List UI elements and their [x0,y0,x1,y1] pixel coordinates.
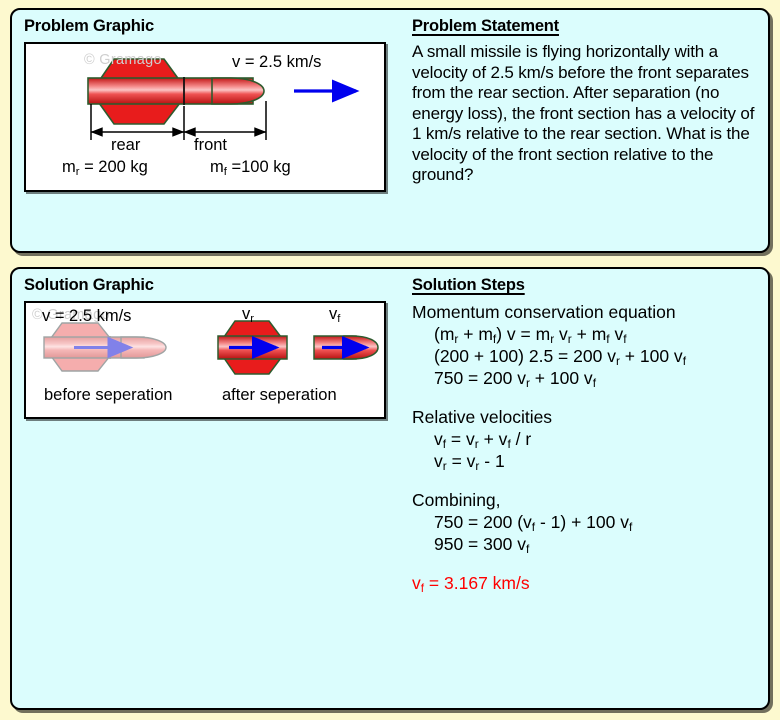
step-relative-line-1: vf = vr + vf / r [434,428,756,450]
problem-graphic-heading: Problem Graphic [24,17,404,36]
problem-mass-rear-label: mr = 200 kg [62,158,148,177]
problem-panel: Problem Graphic © Gramago [10,8,770,253]
caption-after-separation: after seperation [222,386,337,405]
solution-velocity-rear-label: vr [242,305,254,324]
vf-subscript: f [337,313,340,325]
solution-graphic-column: Solution Graphic © Gramago [12,269,404,708]
solution-velocity-front-label: vf [329,305,340,324]
missile-after-front [314,336,378,359]
problem-rear-label: rear [111,136,140,155]
solution-velocity-before-label: v = 2.5 km/s [42,307,131,326]
problem-velocity-label: v = 2.5 km/s [232,53,321,72]
step-combining-line-1: 750 = 200 (vf - 1) + 100 vf [434,511,756,533]
problem-graphic-column: Problem Graphic © Gramago [12,10,404,251]
caption-before-separation: before seperation [44,386,172,405]
step-group-momentum: Momentum conservation equation (mr + mf)… [412,301,756,389]
step-momentum-line-2: (200 + 100) 2.5 = 200 vr + 100 vf [434,345,756,367]
step-head-momentum: Momentum conservation equation [412,301,756,323]
problem-statement-column: Problem Statement A small missile is fly… [404,10,768,251]
vr-symbol: v [242,305,250,323]
step-momentum-line-1: (mr + mf) v = mr vr + mf vf [434,323,756,345]
solution-steps-heading: Solution Steps [412,276,756,295]
step-momentum-line-3: 750 = 200 vr + 100 vf [434,367,756,389]
step-combining-line-2: 950 = 300 vf [434,533,756,555]
solution-panel: Solution Graphic © Gramago [10,267,770,710]
step-group-combining: Combining, 750 = 200 (vf - 1) + 100 vf 9… [412,489,756,555]
mass-front-value: =100 kg [227,158,291,176]
mass-front-symbol: m [210,158,224,176]
problem-mass-front-label: mf =100 kg [210,158,291,177]
slide-root: Problem Graphic © Gramago [0,0,780,720]
vr-subscript: r [250,313,254,325]
mass-rear-value: = 200 kg [80,158,148,176]
step-relative-line-2: vr = vr - 1 [434,450,756,472]
step-head-combining: Combining, [412,489,756,511]
missile-after-rear [218,321,287,374]
solution-steps-list: Momentum conservation equation (mr + mf)… [412,301,756,594]
problem-statement-heading: Problem Statement [412,17,756,36]
solution-graphic-heading: Solution Graphic [24,276,404,295]
step-group-relative: Relative velocities vf = vr + vf / r vr … [412,406,756,472]
vf-symbol: v [329,305,337,323]
problem-statement-text: A small missile is flying horizontally w… [412,42,756,186]
problem-graphic-frame: © Gramago [24,42,386,192]
final-answer: vf = 3.167 km/s [412,572,756,594]
step-head-relative: Relative velocities [412,406,756,428]
mass-rear-symbol: m [62,158,76,176]
solution-steps-column: Solution Steps Momentum conservation equ… [404,269,768,708]
missile-before [44,323,166,371]
solution-graphic-frame: © Gramago [24,301,386,419]
problem-front-label: front [194,136,227,155]
